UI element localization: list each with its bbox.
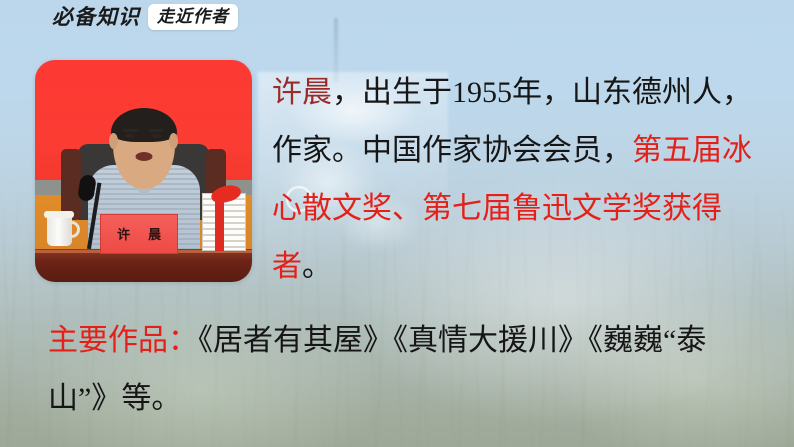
- author-bio-paragraph: 许晨，出生于1955年，山东德州人，作家。中国作家协会会员，第五届冰心散文奖、第…: [272, 64, 772, 296]
- photo-person-brow-left: [123, 129, 138, 132]
- section-chip: 走近作者: [148, 4, 238, 30]
- slide-canvas: 必备知识 走近作者 许 晨: [0, 0, 794, 447]
- photo-person-brow-right: [149, 129, 164, 132]
- page-title: 必备知识: [52, 7, 140, 28]
- header: 必备知识 走近作者: [52, 4, 238, 30]
- nameplate-char-2: 晨: [148, 228, 161, 241]
- author-name: 许晨: [272, 76, 332, 109]
- nameplate-char-1: 许: [117, 228, 130, 241]
- photo-chair-arm-left: [61, 149, 81, 220]
- teacup-lid: [44, 211, 74, 218]
- photo-person-ear-left: [109, 133, 118, 149]
- major-works-block: 主要作品：《居者有其屋》《真情大援川》《巍巍“泰山”》等。: [48, 312, 748, 428]
- major-works-label: 主要作品：: [48, 324, 198, 357]
- bio-period: 。: [302, 250, 332, 283]
- photo-person-mouth: [135, 152, 152, 161]
- author-photo: 许 晨: [35, 60, 252, 282]
- nameplate: 许 晨: [100, 214, 178, 254]
